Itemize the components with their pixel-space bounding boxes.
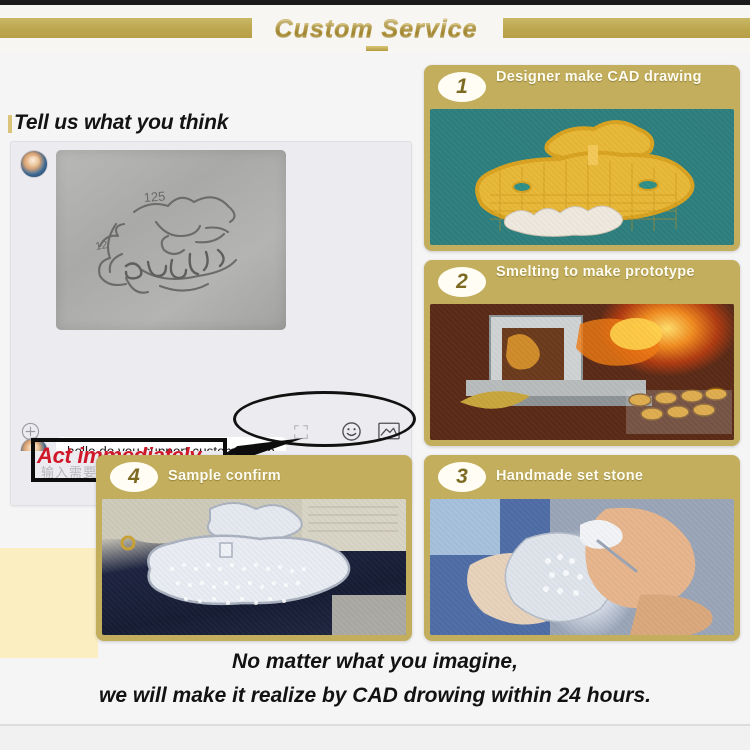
footer-line-1: No matter what you imagine, — [0, 645, 750, 679]
image-grain — [430, 109, 734, 245]
step-title-3: Handmade set stone — [496, 468, 732, 485]
svg-text:12: 12 — [94, 239, 108, 253]
svg-text:125: 125 — [143, 189, 166, 205]
step-badge-2: 2 — [438, 267, 486, 297]
picture-icon[interactable] — [378, 422, 400, 440]
image-grain — [430, 304, 734, 440]
header: Custom Service — [0, 5, 750, 53]
header-gold-bar-right — [503, 18, 750, 38]
step-card-2[interactable]: 2 Smelting to make prototype — [424, 260, 740, 446]
step-card-3-header: 3 Handmade set stone — [424, 455, 740, 499]
promo-banner: Custom Service Tell us what you think — [0, 0, 750, 750]
footer-strip — [0, 726, 750, 750]
section-heading: Tell us what you think — [14, 111, 228, 135]
step-card-1[interactable]: 1 Designer make CAD drawing — [424, 65, 740, 251]
step-card-1-header: 1 Designer make CAD drawing — [424, 65, 740, 109]
sketch-image[interactable]: 125 12 — [56, 150, 286, 330]
chat-row-image: 125 12 — [20, 150, 286, 330]
step-card-4[interactable]: 4 Sample confirm — [96, 455, 412, 641]
image-grain — [430, 499, 734, 635]
header-gold-bar-left — [0, 18, 252, 38]
left-yellow-band — [0, 548, 98, 658]
avatar — [20, 150, 48, 178]
step-image-1 — [430, 109, 734, 245]
title-underline-dash — [366, 46, 388, 51]
step-title-2: Smelting to make prototype — [496, 264, 732, 281]
step-title-1: Designer make CAD drawing — [496, 69, 732, 86]
page-title: Custom Service — [250, 13, 502, 45]
image-grain — [102, 499, 406, 635]
footer-line-2: we will make it realize by CAD drowing w… — [0, 679, 750, 713]
step-badge-1: 1 — [438, 72, 486, 102]
step-image-3 — [430, 499, 734, 635]
step-card-4-header: 4 Sample confirm — [96, 455, 412, 499]
sketch-strokes: 125 12 — [56, 150, 286, 330]
step-badge-4: 4 — [110, 462, 158, 492]
step-title-4: Sample confirm — [168, 468, 404, 485]
step-badge-3: 3 — [438, 462, 486, 492]
smiley-icon[interactable] — [341, 421, 362, 442]
step-image-2 — [430, 304, 734, 440]
step-image-4 — [102, 499, 406, 635]
footer-tagline: No matter what you imagine, we will make… — [0, 645, 750, 713]
step-card-3[interactable]: 3 Handmade set stone — [424, 455, 740, 641]
step-card-2-header: 2 Smelting to make prototype — [424, 260, 740, 304]
body-canvas: Tell us what you think — [0, 53, 750, 693]
heading-tick — [8, 115, 12, 133]
